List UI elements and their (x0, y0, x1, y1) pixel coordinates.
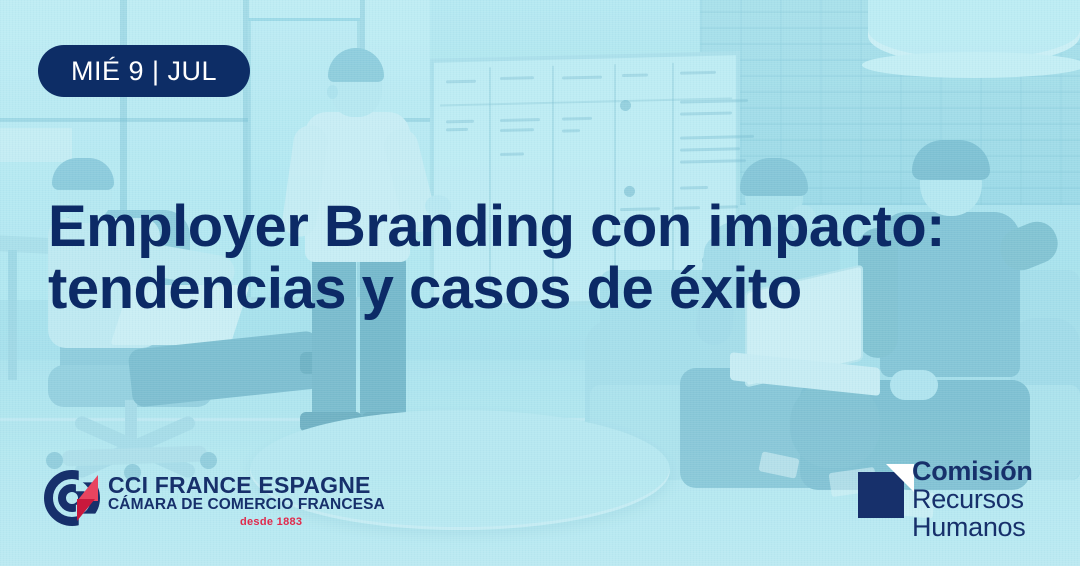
cci-france-espagne-logo: CCI FRANCE ESPAGNE CÁMARA DE COMERCIO FR… (44, 468, 344, 530)
page-title: Employer Branding con impacto: tendencia… (48, 196, 1048, 320)
comision-logo-line-2: Recursos (912, 486, 1033, 513)
date-badge-label: MIÉ 9 | JUL (71, 56, 217, 87)
date-badge: MIÉ 9 | JUL (38, 45, 250, 97)
comision-logo-line-3: Humanos (912, 514, 1033, 541)
event-banner: MIÉ 9 | JUL Employer Branding con impact… (0, 0, 1080, 566)
title-line-2: tendencias y casos de éxito (48, 258, 1048, 320)
cci-circle-mark-icon (44, 470, 100, 526)
cci-logo-tagline: desde 1883 (240, 516, 302, 528)
banner-foreground: MIÉ 9 | JUL Employer Branding con impact… (0, 0, 1080, 566)
comision-logo-line-1: Comisión (912, 458, 1033, 485)
cci-logo-line-1: CCI FRANCE ESPAGNE (108, 472, 371, 499)
title-line-1: Employer Branding con impacto: (48, 196, 1048, 258)
cci-logo-line-2: CÁMARA DE COMERCIO FRANCESA (108, 496, 385, 514)
comision-recursos-humanos-logo: Comisión Recursos Humanos (858, 458, 1043, 542)
comision-logo-text: Comisión Recursos Humanos (912, 458, 1033, 541)
square-mark-icon (858, 472, 904, 518)
